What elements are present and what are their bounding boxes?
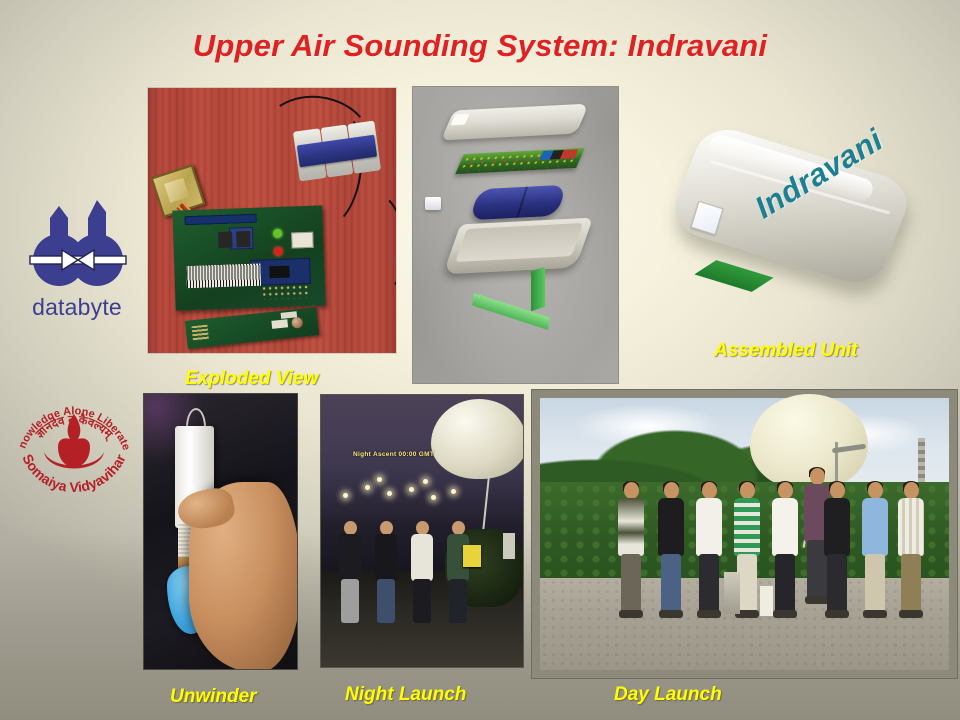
main-pcb — [172, 205, 325, 310]
weather-balloon — [431, 399, 524, 479]
assembled-unit-render[interactable]: Indravani — [660, 120, 950, 330]
pin-header — [185, 214, 257, 226]
caption-day-launch: Day Launch — [614, 684, 722, 706]
red-led-icon — [274, 247, 283, 256]
green-led-icon — [273, 229, 282, 238]
person — [654, 482, 688, 618]
distant-lights — [339, 475, 459, 509]
person — [373, 521, 399, 625]
person — [820, 482, 854, 618]
unwinder-payload — [724, 572, 740, 614]
caption-exploded-view: Exploded View — [185, 368, 318, 390]
exploded-view-photo[interactable] — [148, 88, 396, 353]
sensor-pad — [271, 319, 288, 329]
enclosure-cavity — [455, 223, 583, 262]
person — [337, 521, 363, 625]
pin-header — [191, 325, 208, 342]
person — [445, 521, 471, 625]
regulator — [218, 232, 233, 248]
thermistor — [291, 317, 303, 329]
radiosonde-payload — [760, 586, 773, 616]
unwinder-payload — [503, 533, 515, 559]
night-ascent-overlay-text: Night Ascent 00:00 GMT — [353, 451, 434, 458]
caption-assembled-unit: Assembled Unit — [714, 340, 858, 362]
databyte-wordmark: databyte — [14, 294, 140, 321]
prototype-pads — [261, 284, 309, 300]
databyte-logo: databyte — [14, 196, 140, 336]
caption-unwinder: Unwinder — [170, 686, 257, 708]
antenna-strip — [471, 269, 549, 355]
page-title: Upper Air Sounding System: Indravani — [0, 28, 960, 64]
connector — [291, 232, 314, 249]
exploded-cad-render[interactable] — [412, 86, 619, 384]
regulator — [236, 231, 251, 247]
night-launch-photo[interactable]: Night Ascent 00:00 GMT — [320, 394, 524, 668]
barcode-label — [186, 264, 261, 289]
antenna-bend — [531, 267, 545, 312]
databyte-mark-icon — [28, 196, 128, 292]
person — [409, 521, 435, 625]
slide-canvas: Upper Air Sounding System: Indravani dat… — [0, 0, 960, 720]
unwinder-photo[interactable] — [143, 393, 298, 670]
sensor-element — [425, 197, 441, 210]
person — [768, 482, 802, 618]
somaiya-vidyavihar-logo: Knowledge Alone Liberates ज्ञानदेव तु कै… — [8, 374, 140, 492]
antenna-strip — [694, 260, 773, 292]
balloon-line — [482, 473, 490, 535]
day-launch-photo[interactable] — [531, 389, 958, 679]
person — [894, 482, 928, 618]
radiosonde-payload — [463, 545, 481, 567]
person — [858, 482, 892, 618]
person — [692, 482, 726, 618]
caption-night-launch: Night Launch — [345, 684, 466, 706]
person — [614, 482, 648, 618]
